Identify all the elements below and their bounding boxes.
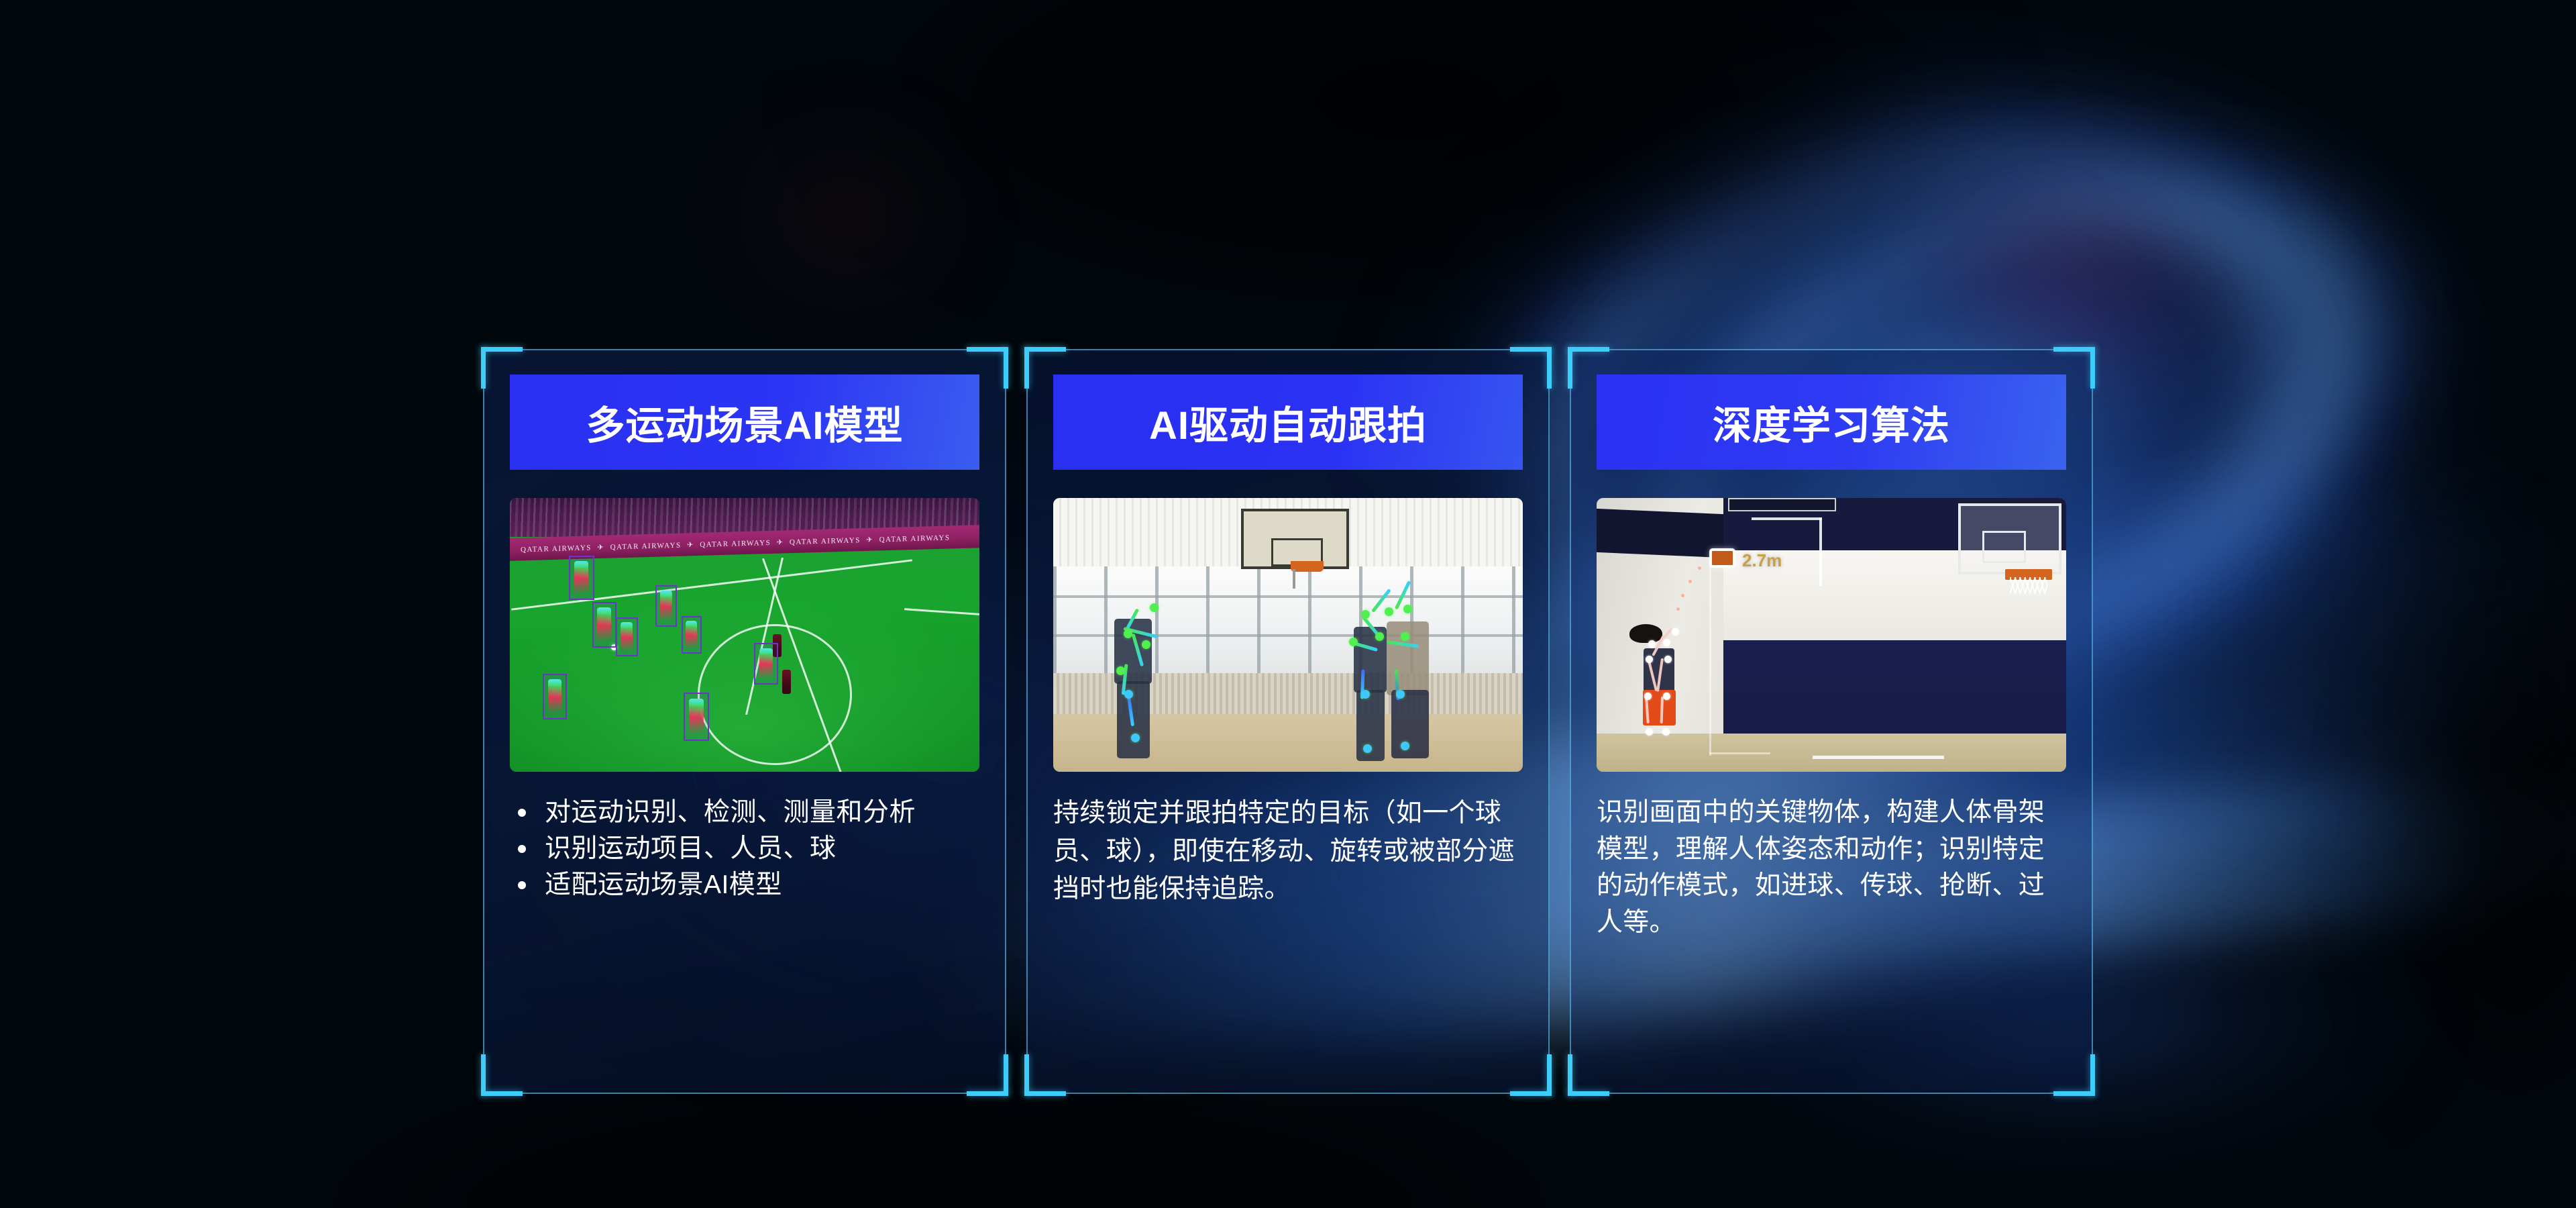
skeleton-joint [1349,638,1358,646]
ball-detection-box [1709,548,1735,568]
skeleton-joint [1361,610,1370,619]
basketball-net [2010,577,2047,593]
detection-box [569,556,594,600]
detection-box [684,693,709,741]
scoreboard [1728,498,1836,511]
gym-navy-padding [1723,640,2066,734]
media-basketball-pose [1053,498,1523,772]
skeleton-joint [1116,666,1125,675]
court-line [1813,756,1944,759]
media-basketball-shot-tracking: 2.7m [1597,498,2066,772]
gym-floor [1597,734,2066,772]
skeleton-joint [1375,632,1384,641]
feature-card-ai-auto-tracking[interactable]: AI驱动自动跟拍 [1026,349,1550,1094]
detection-box [754,643,778,685]
gym-pillar-stripe [1597,509,1723,558]
feature-card-row: 多运动场景AI模型 QATAR AIRWAYS ✈ QATAR AIRWAYS … [483,349,2093,1094]
skeleton-joint [1646,656,1653,663]
feature-bullet-list: 对运动识别、检测、测量和分析 识别运动项目、人员、球 适配运动场景AI模型 [510,795,979,903]
player-untracked [782,670,791,694]
skeleton-joint [1396,690,1405,699]
backboard [1241,509,1349,569]
skeleton-joint [1142,640,1150,649]
card-title-deep-learning-algorithm: 深度学习算法 [1597,374,2066,470]
detection-box [682,616,702,654]
card-body-deep-learning-algorithm: 识别画面中的关键物体，构建人体骨架模型，理解人体姿态和动作；识别特定的动作模式，… [1597,795,2066,941]
skeleton-joint [1131,734,1140,742]
skeleton-joint [1385,607,1393,616]
ball-distance-label: 2.7m [1742,550,1782,571]
tracking-guide-line [1709,752,1770,754]
list-item: 适配运动场景AI模型 [510,867,979,903]
skeleton-joint [1124,630,1132,638]
tracking-guide-line [1819,517,1822,586]
player-torso [1387,621,1429,695]
tracking-guide-line [1752,517,1822,520]
list-item: 对运动识别、检测、测量和分析 [510,795,979,831]
skeleton-joint [1646,728,1653,736]
list-item: 识别运动项目、人员、球 [510,831,979,867]
trajectory-dot [1698,566,1701,570]
card-body-multi-sport-ai-model: 对运动识别、检测、测量和分析 识别运动项目、人员、球 适配运动场景AI模型 [510,795,979,903]
backboard [1958,503,2061,574]
card-body-ai-auto-tracking: 持续锁定并跟拍特定的目标（如一个球员、球），即使在移动、旋转或被部分遮挡时也能保… [1053,795,1523,909]
skeleton-joint [1150,603,1159,612]
player-hair [1629,624,1662,644]
skeleton-joint [1662,728,1670,736]
detection-box [543,674,567,719]
skeleton-joint [1403,605,1412,613]
card-title-ai-auto-tracking: AI驱动自动跟拍 [1053,374,1523,470]
skeleton-joint [1401,632,1409,641]
trajectory-dot [1688,580,1692,583]
detection-box [655,585,677,627]
skeleton-joint [1124,690,1133,699]
card-title-multi-sport-ai-model: 多运动场景AI模型 [510,374,979,470]
hoop-pole [1293,569,1295,589]
feature-card-multi-sport-ai-model[interactable]: 多运动场景AI模型 QATAR AIRWAYS ✈ QATAR AIRWAYS … [483,349,1006,1094]
feature-description: 持续锁定并跟拍特定的目标（如一个球员、球），即使在移动、旋转或被部分遮挡时也能保… [1053,795,1523,909]
media-soccer-detection: QATAR AIRWAYS ✈ QATAR AIRWAYS ✈ QATAR AI… [510,498,979,772]
skeleton-joint [1672,628,1679,636]
skeleton-joint [1664,656,1672,663]
detection-box [592,602,616,648]
skeleton-joint [1361,690,1370,699]
trajectory-dot [1681,594,1684,597]
detection-box [616,617,638,656]
feature-card-deep-learning-algorithm[interactable]: 深度学习算法 2.7m [1570,349,2093,1094]
tracking-guide-line [1709,558,1711,756]
feature-description: 识别画面中的关键物体，构建人体骨架模型，理解人体姿态和动作；识别特定的动作模式，… [1597,795,2066,941]
